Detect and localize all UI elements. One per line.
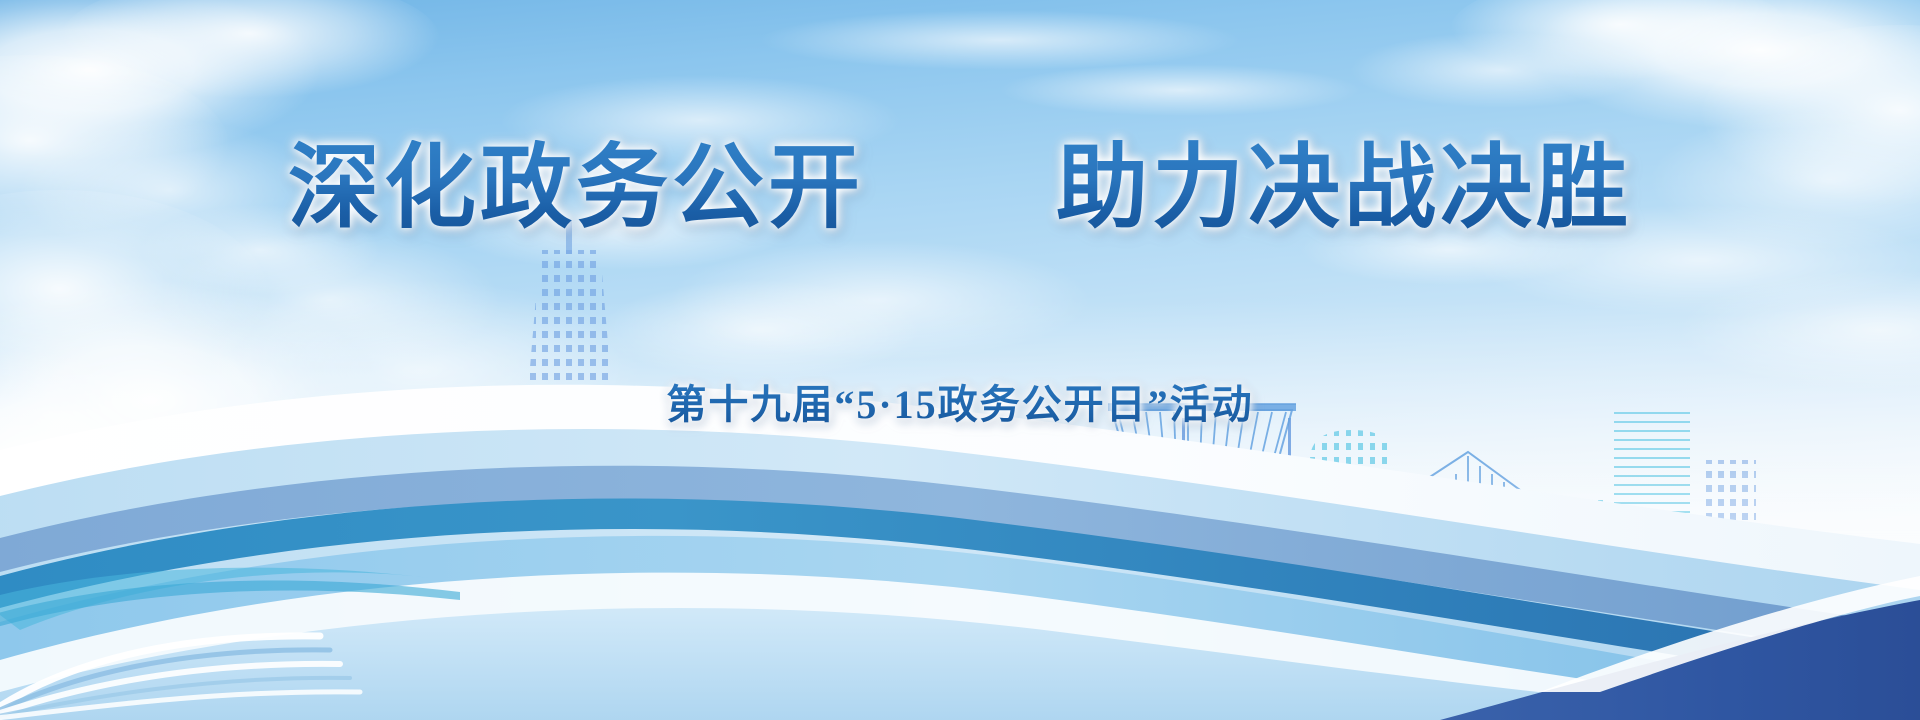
wave-ribbons <box>0 300 1920 720</box>
event-banner: 深化政务公开 助力决战决胜 第十九届“5·15政务公开日”活动 <box>0 0 1920 720</box>
